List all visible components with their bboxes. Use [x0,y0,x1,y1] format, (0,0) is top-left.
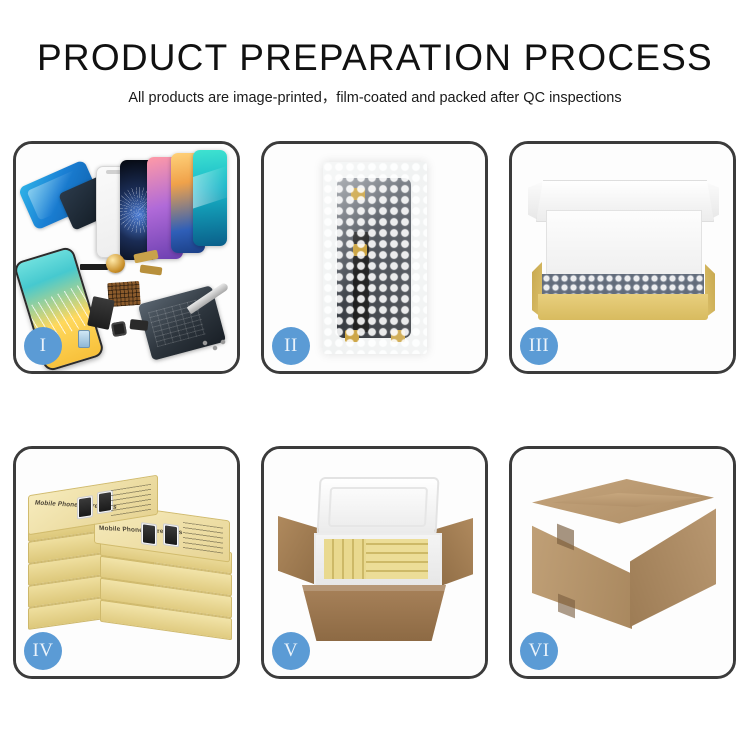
vibration-motor-part-icon [106,254,125,273]
process-step-panel-6: VI [509,446,736,679]
yellow-boxes-contents [324,539,428,579]
phone-screen-icon [193,150,227,246]
flex-cable-icon [353,232,369,332]
flex-cable-part-icon [140,265,163,276]
step-badge-4: IV [24,632,62,670]
step-badge-2: II [272,327,310,365]
gold-connector-icon [391,330,405,342]
camera-module-part-icon [111,321,127,337]
gold-connector-icon [353,244,367,256]
process-step-panel-2: II [261,141,488,374]
speaker-part-icon [130,319,149,331]
bubble-texture [323,162,427,354]
process-step-panel-1: I [13,141,240,374]
box-front-panel [538,294,708,320]
step-badge-1: I [24,327,62,365]
box-label-bullet-lines [111,484,151,516]
carton-front-panel [302,585,446,641]
process-step-panel-5: V [261,446,488,679]
connector-part-icon [80,264,108,270]
process-step-panel-4: Mobile Phone Spare Parts Mobile Phone Sp… [13,446,240,679]
sim-tray-part-icon [78,330,90,348]
gold-connector-icon [351,188,365,200]
phone-thumbnail-icon [163,523,179,547]
process-step-panel-3: III [509,141,736,374]
page-title: PRODUCT PREPARATION PROCESS [0,36,750,80]
phone-thumbnail-icon [141,522,157,546]
lcd-screen-icon [337,178,411,338]
page-subtitle: All products are image-printed，film-coat… [0,88,750,108]
box-label-bullet-lines [183,522,223,554]
yellow-boxes-vertical [324,539,366,579]
phone-thumbnail-icon [77,495,93,520]
step-badge-3: III [520,327,558,365]
screws-icon [201,339,227,353]
product-preparation-infographic: PRODUCT PREPARATION PROCESS All products… [0,0,750,750]
bubble-wrap-bag-icon [323,162,427,354]
foam-sheet-icon [546,210,702,278]
yellow-boxes-horizontal [366,539,428,579]
styrofoam-lid-icon [316,477,439,537]
step-badge-5: V [272,632,310,670]
carton-left-face [532,509,632,629]
bubble-wrapped-contents-icon [542,274,704,296]
process-step-grid: I II [13,141,737,679]
header: PRODUCT PREPARATION PROCESS All products… [0,36,750,108]
gold-connector-icon [345,330,359,342]
carton-right-face [630,501,716,627]
step-badge-6: VI [520,632,558,670]
